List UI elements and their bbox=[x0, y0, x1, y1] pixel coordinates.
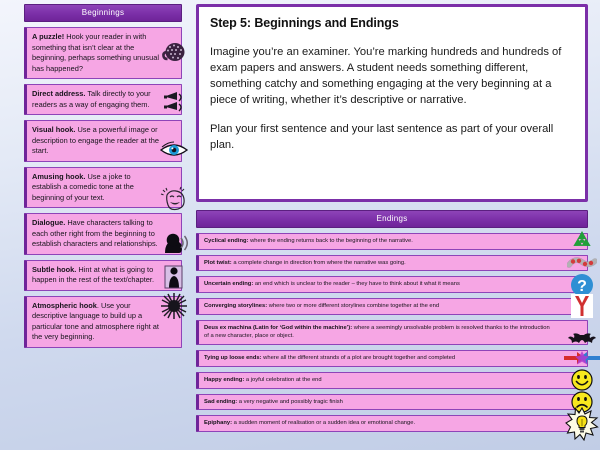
ending-row[interactable]: Tying up loose ends: where all the diffe… bbox=[196, 350, 588, 367]
ending-body: a complete change in direction from wher… bbox=[232, 260, 406, 266]
joining-arrows-icon bbox=[563, 343, 600, 373]
speaking-head-icon bbox=[161, 228, 191, 258]
page-title: Step 5: Beginnings and Endings bbox=[210, 16, 574, 30]
person-doorway-icon bbox=[159, 262, 189, 292]
converging-arrows-icon bbox=[567, 291, 597, 321]
candy-cane-icon bbox=[567, 248, 597, 278]
ending-body: a sudden moment of realisation or a sudd… bbox=[232, 420, 415, 426]
lightbulb-icon bbox=[565, 407, 599, 441]
laughing-face-icon bbox=[159, 184, 189, 214]
card-title: Amusing hook. bbox=[32, 172, 85, 181]
smiley-sad-icon bbox=[567, 387, 597, 417]
card-title: Subtle hook. bbox=[32, 265, 76, 274]
smiley-happy-icon bbox=[567, 365, 597, 395]
beginnings-card[interactable]: Atmospheric hook. Use your descriptive l… bbox=[24, 296, 182, 348]
beginnings-header-label: Beginnings bbox=[82, 8, 125, 17]
question-mark-icon: ? bbox=[567, 270, 597, 300]
ending-row[interactable]: Converging storylines: where two or more… bbox=[196, 298, 588, 315]
ending-title: Sad ending: bbox=[204, 399, 237, 405]
ending-row[interactable]: Plot twist: a complete change in directi… bbox=[196, 255, 588, 272]
main-column: Step 5: Beginnings and Endings Imagine y… bbox=[196, 4, 588, 432]
ending-row[interactable]: Epiphany: a sudden moment of realisation… bbox=[196, 415, 588, 432]
ending-row[interactable]: Uncertain ending: an end which is unclea… bbox=[196, 276, 588, 293]
ending-title: Cyclical ending: bbox=[204, 238, 248, 244]
ending-title: Uncertain ending: bbox=[204, 281, 253, 287]
beginnings-card[interactable]: A puzzle! Hook your reader in with somet… bbox=[24, 27, 182, 79]
beginnings-card[interactable]: Visual hook. Use a powerful image or des… bbox=[24, 120, 182, 162]
card-title: Atmospheric hook bbox=[32, 301, 97, 310]
ending-body: a very negative and possibly tragic fini… bbox=[237, 399, 343, 405]
ending-title: Epiphany: bbox=[204, 420, 232, 426]
ending-row[interactable]: Cyclical ending: where the ending return… bbox=[196, 233, 588, 250]
card-title: A puzzle! bbox=[32, 32, 64, 41]
ending-row[interactable]: Deus ex machina (Latin for ‘God within t… bbox=[196, 320, 588, 345]
brain-icon bbox=[159, 38, 189, 68]
ending-row[interactable]: Happy ending: a joyful celebration at th… bbox=[196, 372, 588, 389]
ending-row[interactable]: Sad ending: a very negative and possibly… bbox=[196, 394, 588, 411]
recycle-icon bbox=[567, 226, 597, 256]
beginnings-card[interactable]: Amusing hook. Use a joke to establish a … bbox=[24, 167, 182, 209]
endings-section: Endings Cyclical ending: where the endin… bbox=[196, 210, 588, 432]
ending-title: Converging storylines: bbox=[204, 303, 267, 309]
sunburst-icon bbox=[159, 291, 189, 321]
step-panel: Step 5: Beginnings and Endings Imagine y… bbox=[196, 4, 588, 202]
card-title: Dialogue. bbox=[32, 218, 65, 227]
beginnings-column: Beginnings A puzzle! Hook your reader in… bbox=[24, 4, 182, 348]
card-title: Visual hook. bbox=[32, 125, 75, 134]
beginnings-header: Beginnings bbox=[24, 4, 182, 22]
beginnings-card[interactable]: Dialogue. Have characters talking to eac… bbox=[24, 213, 182, 255]
ending-body: a joyful celebration at the end bbox=[244, 377, 321, 383]
ending-title: Tying up loose ends: bbox=[204, 355, 262, 361]
endings-header: Endings bbox=[196, 210, 588, 228]
card-title: Direct address. bbox=[32, 89, 85, 98]
endings-header-label: Endings bbox=[376, 214, 407, 223]
ending-title: Plot twist: bbox=[204, 260, 232, 266]
ending-body: where two or more different storylines c… bbox=[267, 303, 439, 309]
beginnings-card[interactable]: Subtle hook. Hint at what is going to ha… bbox=[24, 260, 182, 291]
megaphone-icon bbox=[159, 87, 189, 117]
svg-text:?: ? bbox=[577, 278, 587, 295]
step-paragraph: Plan your first sentence and your last s… bbox=[210, 121, 574, 153]
ending-title: Happy ending: bbox=[204, 377, 244, 383]
ending-body: where the ending returns back to the beg… bbox=[248, 238, 412, 244]
ending-body: an end which is unclear to the reader – … bbox=[253, 281, 460, 287]
ending-body: where all the different strands of a plo… bbox=[262, 355, 456, 361]
eye-icon bbox=[159, 135, 189, 165]
step-paragraph: Imagine you’re an examiner. You’re marki… bbox=[210, 44, 574, 108]
ending-title: Deus ex machina (Latin for ‘God within t… bbox=[204, 325, 352, 331]
beginnings-card[interactable]: Direct address. Talk directly to your re… bbox=[24, 84, 182, 115]
